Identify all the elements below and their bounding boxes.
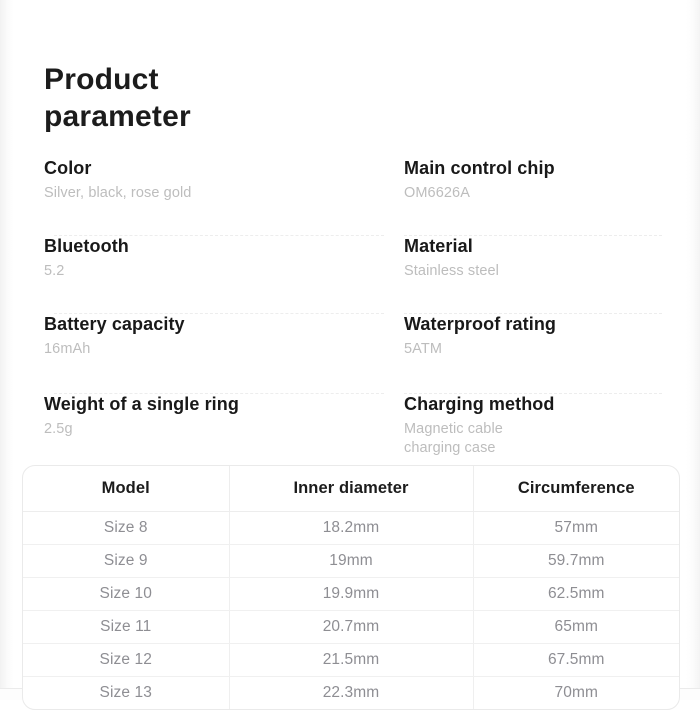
cell-inner-diameter: 19.9mm	[229, 578, 473, 611]
spec-item-waterproof-rating: Waterproof rating 5ATM	[404, 314, 660, 394]
cell-circumference: 67.5mm	[473, 644, 679, 677]
spec-label: Battery capacity	[44, 314, 404, 336]
spec-row: Battery capacity 16mAh Waterproof rating…	[44, 314, 660, 394]
page-title-line-1: Product	[44, 62, 424, 99]
page-title: Product parameter	[44, 62, 424, 135]
spec-label: Charging method	[404, 394, 660, 416]
table-row: Size 9 19mm 59.7mm	[23, 545, 679, 578]
cell-inner-diameter: 20.7mm	[229, 611, 473, 644]
specification-list: Color Silver, black, rose gold Main cont…	[44, 158, 660, 464]
table-row: Size 8 18.2mm 57mm	[23, 512, 679, 545]
column-header-model: Model	[23, 466, 229, 512]
cell-inner-diameter: 22.3mm	[229, 677, 473, 710]
table-row: Size 10 19.9mm 62.5mm	[23, 578, 679, 611]
table-row: Size 11 20.7mm 65mm	[23, 611, 679, 644]
spec-item-material: Material Stainless steel	[404, 236, 660, 314]
cell-circumference: 65mm	[473, 611, 679, 644]
spec-value: Stainless steel	[404, 262, 660, 281]
ring-size-table: Model Inner diameter Circumference Size …	[22, 465, 680, 710]
spec-label: Bluetooth	[44, 236, 404, 258]
table-row: Size 13 22.3mm 70mm	[23, 677, 679, 710]
spec-label: Material	[404, 236, 660, 258]
spec-value: Silver, black, rose gold	[44, 184, 404, 203]
spec-label: Color	[44, 158, 404, 180]
left-edge-shading	[0, 0, 14, 700]
spec-label: Waterproof rating	[404, 314, 660, 336]
spec-row: Weight of a single ring 2.5g Charging me…	[44, 394, 660, 464]
cell-inner-diameter: 21.5mm	[229, 644, 473, 677]
spec-value-line-2: charging case	[404, 439, 660, 458]
spec-value: OM6626A	[404, 184, 660, 203]
spec-item-battery-capacity: Battery capacity 16mAh	[44, 314, 404, 394]
spec-value: Magnetic cable charging case	[404, 420, 660, 457]
spec-value: 5.2	[44, 262, 404, 281]
cell-model: Size 9	[23, 545, 229, 578]
spec-value: 5ATM	[404, 340, 660, 359]
cell-model: Size 10	[23, 578, 229, 611]
cell-circumference: 70mm	[473, 677, 679, 710]
cell-circumference: 62.5mm	[473, 578, 679, 611]
column-header-inner-diameter: Inner diameter	[229, 466, 473, 512]
spec-item-bluetooth: Bluetooth 5.2	[44, 236, 404, 314]
cell-inner-diameter: 19mm	[229, 545, 473, 578]
spec-value: 16mAh	[44, 340, 404, 359]
table-header-row: Model Inner diameter Circumference	[23, 466, 679, 512]
cell-model: Size 11	[23, 611, 229, 644]
spec-label: Weight of a single ring	[44, 394, 404, 416]
cell-circumference: 59.7mm	[473, 545, 679, 578]
spec-row: Bluetooth 5.2 Material Stainless steel	[44, 236, 660, 314]
right-edge-shading	[686, 0, 700, 700]
table-row: Size 12 21.5mm 67.5mm	[23, 644, 679, 677]
spec-item-weight-single-ring: Weight of a single ring 2.5g	[44, 394, 404, 464]
spec-row: Color Silver, black, rose gold Main cont…	[44, 158, 660, 236]
cell-model: Size 13	[23, 677, 229, 710]
spec-item-main-control-chip: Main control chip OM6626A	[404, 158, 660, 236]
spec-item-charging-method: Charging method Magnetic cable charging …	[404, 394, 660, 464]
page-title-line-2: parameter	[44, 99, 424, 136]
cell-model: Size 8	[23, 512, 229, 545]
cell-model: Size 12	[23, 644, 229, 677]
spec-value: 2.5g	[44, 420, 404, 439]
spec-label: Main control chip	[404, 158, 660, 180]
spec-value-line-1: Magnetic cable	[404, 420, 660, 439]
cell-circumference: 57mm	[473, 512, 679, 545]
column-header-circumference: Circumference	[473, 466, 679, 512]
product-parameter-page: Product parameter Color Silver, black, r…	[0, 0, 700, 700]
spec-item-color: Color Silver, black, rose gold	[44, 158, 404, 236]
cell-inner-diameter: 18.2mm	[229, 512, 473, 545]
